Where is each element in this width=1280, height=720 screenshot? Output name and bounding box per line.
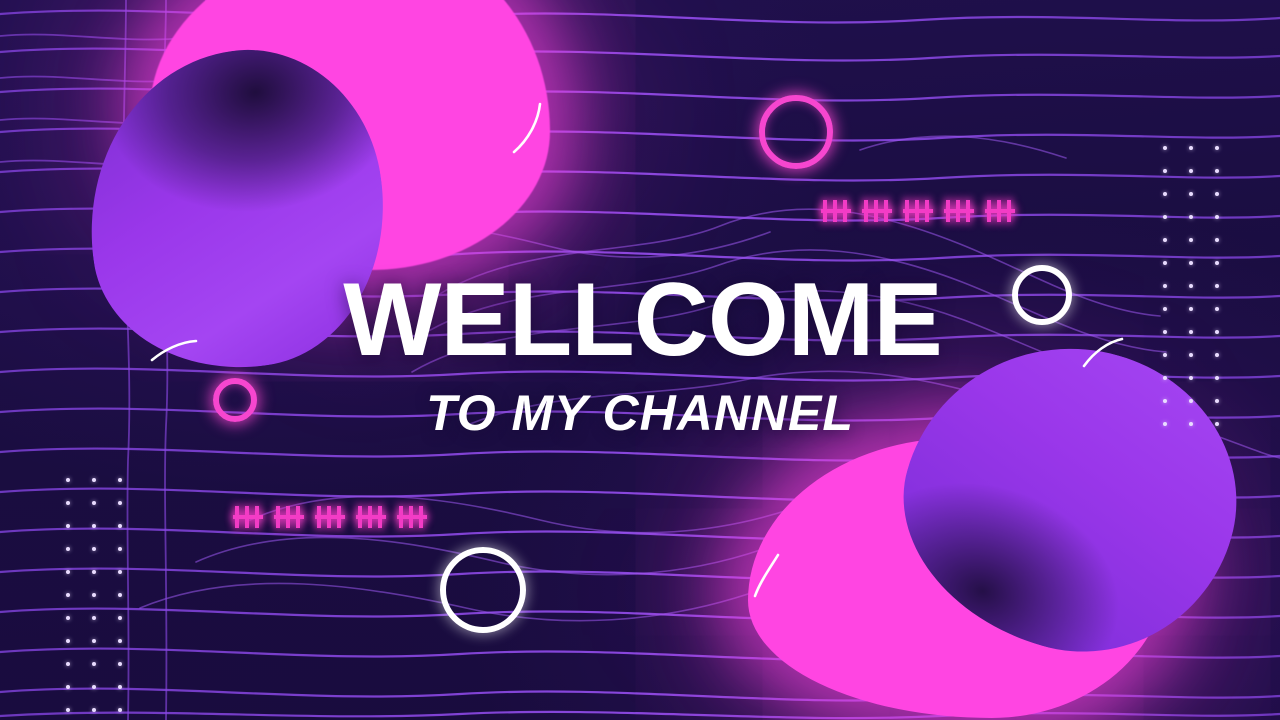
tally-mark [863,200,891,222]
arc-accent-top [508,100,548,156]
arc-accent-left [148,338,200,364]
tally-mark [357,506,385,528]
ring-white-large [440,547,526,633]
tally-mark [316,506,344,528]
tally-mark [275,506,303,528]
welcome-banner: WELLCOME TO MY CHANNEL [0,0,1280,720]
tally-mark [822,200,850,222]
tally-top-right [822,200,1014,222]
tally-bottom-left [234,506,426,528]
tally-mark [234,506,262,528]
ring-pink-small [213,378,257,422]
tally-mark [945,200,973,222]
arc-accent-right [1082,336,1126,370]
ring-pink-large [759,95,833,169]
tally-mark [986,200,1014,222]
ring-white-medium [1012,265,1072,325]
tally-mark [398,506,426,528]
arc-accent-bottom [750,552,784,600]
dot-grid-left [66,478,122,712]
tally-mark [904,200,932,222]
dot-grid-right [1163,146,1219,426]
